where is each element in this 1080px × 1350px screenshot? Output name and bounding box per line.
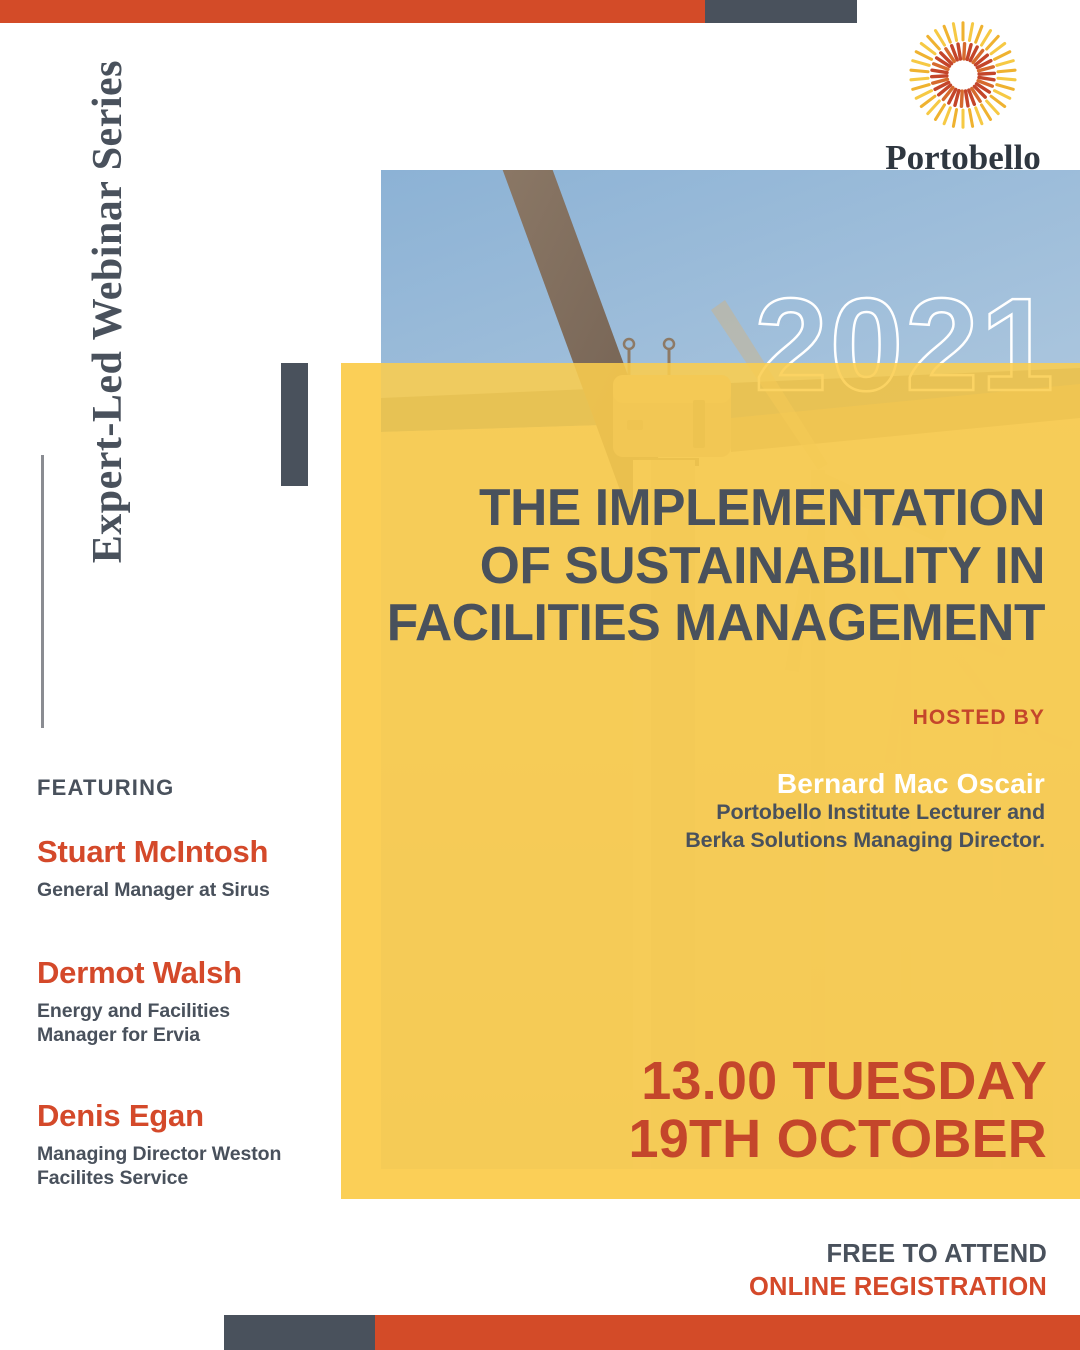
host-description-line-1: Portobello Institute Lecturer and <box>685 798 1045 826</box>
vertical-series-title: Expert-Led Webinar Series <box>26 60 90 450</box>
speaker-name: Dermot Walsh <box>37 957 327 990</box>
host-description: Portobello Institute Lecturer and Berka … <box>685 798 1045 855</box>
speaker-card: Dermot Walsh Energy and FacilitiesManage… <box>37 957 327 1047</box>
vertical-series-label: Expert-Led Webinar Series <box>84 60 132 563</box>
speaker-card: Denis Egan Managing Director WestonFacil… <box>37 1100 327 1190</box>
event-time-day: 13.00 TUESDAY <box>629 1053 1047 1111</box>
speaker-role: Managing Director WestonFacilites Servic… <box>37 1142 327 1191</box>
speaker-role: Energy and FacilitiesManager for Ervia <box>37 999 327 1048</box>
top-accent-bar-red <box>0 0 705 23</box>
speaker-role: General Manager at Sirus <box>37 878 327 902</box>
top-accent-bar-slate <box>705 0 857 23</box>
free-to-attend-label: FREE TO ATTEND <box>749 1238 1047 1271</box>
bottom-accent-bar-slate <box>224 1315 375 1350</box>
slate-accent-block <box>281 363 308 486</box>
speaker-name: Denis Egan <box>37 1100 327 1133</box>
yellow-panel-left-edge <box>341 363 381 1199</box>
hosted-by-label: HOSTED BY <box>913 706 1045 730</box>
event-datetime: 13.00 TUESDAY 19TH OCTOBER <box>629 1053 1047 1169</box>
yellow-panel-bottom-edge <box>341 1169 1080 1199</box>
registration-cta: FREE TO ATTEND ONLINE REGISTRATION <box>749 1238 1047 1304</box>
featuring-label: FEATURING <box>37 775 175 801</box>
page-title-line-3: FACILITIES MANAGEMENT <box>380 594 1045 652</box>
speaker-card: Stuart McIntosh General Manager at Sirus <box>37 836 327 902</box>
sidebar-divider-line <box>41 455 44 728</box>
page-title-line-1: THE IMPLEMENTATION <box>380 479 1045 537</box>
event-date: 19TH OCTOBER <box>629 1111 1047 1169</box>
bottom-accent-bar-red <box>375 1315 1080 1350</box>
page-title-line-2: OF SUSTAINABILITY IN <box>380 537 1045 595</box>
page-title: THE IMPLEMENTATION OF SUSTAINABILITY IN … <box>380 479 1045 652</box>
speaker-name: Stuart McIntosh <box>37 836 327 869</box>
host-name: Bernard Mac Oscair <box>777 768 1045 800</box>
online-registration-label[interactable]: ONLINE REGISTRATION <box>749 1271 1047 1304</box>
host-description-line-2: Berka Solutions Managing Director. <box>685 826 1045 854</box>
sunburst-icon <box>906 18 1020 132</box>
